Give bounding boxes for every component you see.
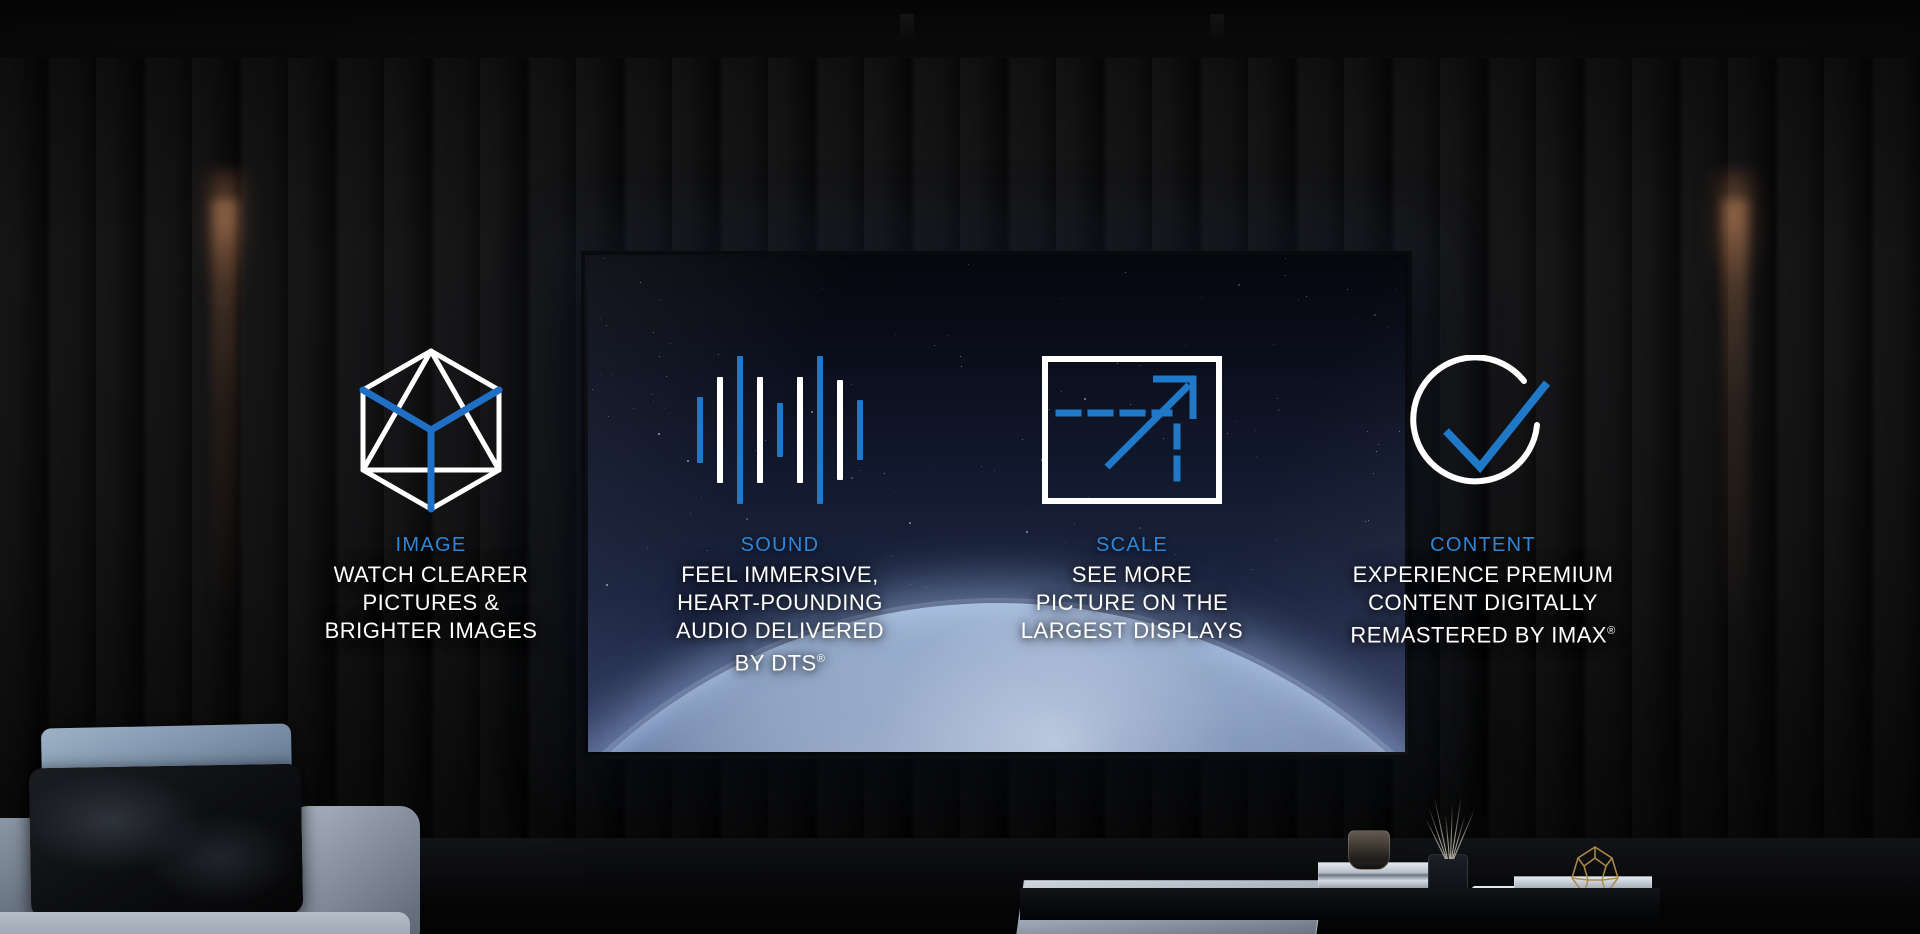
- desc-line: CONTENT DIGITALLY: [1368, 590, 1598, 615]
- expand-frame-arrow-icon: [1041, 340, 1223, 520]
- feature-description: EXPERIENCE PREMIUM CONTENT DIGITALLY REM…: [1350, 561, 1615, 649]
- waveform-bar: [777, 403, 783, 457]
- waveform-bar: [817, 356, 823, 504]
- feature-description: WATCH CLEARER PICTURES & BRIGHTER IMAGES: [325, 561, 538, 645]
- feature-description: SEE MORE PICTURE ON THE LARGEST DISPLAYS: [1021, 561, 1243, 645]
- feature-content[interactable]: CONTENT EXPERIENCE PREMIUM CONTENT DIGIT…: [1318, 340, 1648, 649]
- desc-line: SEE MORE: [1072, 562, 1192, 587]
- check-circle-icon: [1408, 340, 1558, 520]
- waveform-bar: [737, 356, 743, 504]
- feature-kicker: SOUND: [741, 534, 820, 557]
- trademark-symbol: ®: [1607, 625, 1616, 637]
- desc-line: PICTURE ON THE: [1036, 590, 1228, 615]
- feature-callouts: IMAGE WATCH CLEARER PICTURES & BRIGHTER …: [0, 0, 1920, 934]
- waveform-bar: [857, 400, 863, 460]
- waveform-bar: [697, 397, 703, 463]
- desc-line: AUDIO DELIVERED: [676, 618, 884, 643]
- desc-line: LARGEST DISPLAYS: [1021, 618, 1243, 643]
- desc-line: BY DTS: [735, 650, 817, 675]
- waveform-bar: [757, 377, 763, 483]
- feature-kicker: IMAGE: [396, 534, 467, 557]
- feature-kicker: SCALE: [1096, 534, 1168, 557]
- waveform-bars: [697, 355, 863, 505]
- desc-line: REMASTERED BY IMAX: [1350, 622, 1607, 647]
- desc-line: PICTURES &: [362, 590, 499, 615]
- desc-line: WATCH CLEARER: [334, 562, 529, 587]
- trademark-symbol: ®: [817, 653, 826, 665]
- waveform-bar: [797, 377, 803, 483]
- feature-sound[interactable]: SOUND FEEL IMMERSIVE, HEART-POUNDING AUD…: [615, 340, 945, 677]
- feature-description: FEEL IMMERSIVE, HEART-POUNDING AUDIO DEL…: [676, 561, 884, 677]
- desc-line: HEART-POUNDING: [677, 590, 883, 615]
- feature-kicker: CONTENT: [1430, 534, 1536, 557]
- waveform-bar: [837, 380, 843, 480]
- desc-line: BRIGHTER IMAGES: [325, 618, 538, 643]
- feature-image[interactable]: IMAGE WATCH CLEARER PICTURES & BRIGHTER …: [266, 340, 596, 645]
- feature-scale[interactable]: SCALE SEE MORE PICTURE ON THE LARGEST DI…: [967, 340, 1297, 645]
- desc-line: EXPERIENCE PREMIUM: [1353, 562, 1614, 587]
- audio-waveform-icon: [697, 340, 863, 520]
- desc-line: FEEL IMMERSIVE,: [681, 562, 878, 587]
- waveform-bar: [717, 377, 723, 483]
- polyhedron-cube-icon: [355, 340, 507, 520]
